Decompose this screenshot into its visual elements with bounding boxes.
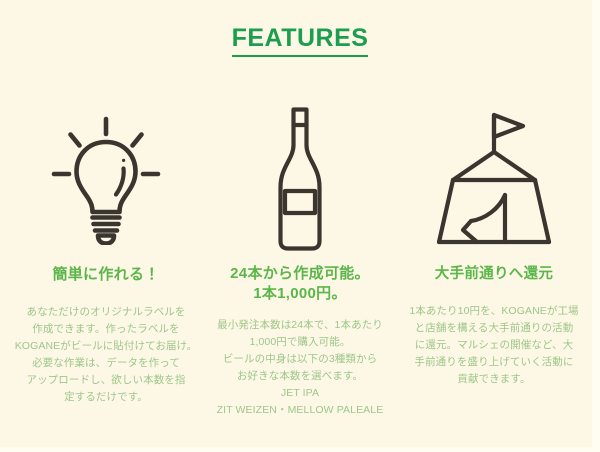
features-page: FEATURES: [0, 0, 600, 452]
feature-column-2: 24本から作成可能。 1本1,000円。 最小発注本数は24本で、1本あたり 1…: [204, 104, 396, 419]
bottom-edge-strip: [0, 447, 600, 452]
lightbulb-icon: [50, 104, 162, 254]
feature-column-1: 簡単に作れる！ あなただけのオリジナルラベルを 作成できます。作ったラベルを K…: [10, 104, 202, 419]
feature-heading-2: 24本から作成可能。 1本1,000円。: [230, 264, 370, 305]
feature-body-1: あなただけのオリジナルラベルを 作成できます。作ったラベルを KOGANEがビー…: [15, 304, 198, 406]
feature-column-3: 大手前通りへ還元 1本あたり10円を、KOGANEが工場 と店舗を構える大手前通…: [398, 104, 590, 419]
features-columns: 簡単に作れる！ あなただけのオリジナルラベルを 作成できます。作ったラベルを K…: [0, 104, 600, 419]
feature-heading-3: 大手前通りへ還元: [435, 264, 553, 285]
tent-icon: [433, 104, 555, 254]
beer-bottle-icon: [265, 104, 335, 254]
feature-body-3: 1本あたり10円を、KOGANEが工場 と店舗を構える大手前通りの活動 に還元。…: [409, 303, 578, 388]
feature-body-2: 最小発注本数は24本で、1本あたり 1,000円で購入可能。 ビールの中身は以下…: [217, 317, 384, 419]
page-title-container: FEATURES: [0, 26, 600, 57]
page-title: FEATURES: [232, 26, 369, 57]
feature-heading-1: 簡単に作れる！: [52, 264, 159, 286]
